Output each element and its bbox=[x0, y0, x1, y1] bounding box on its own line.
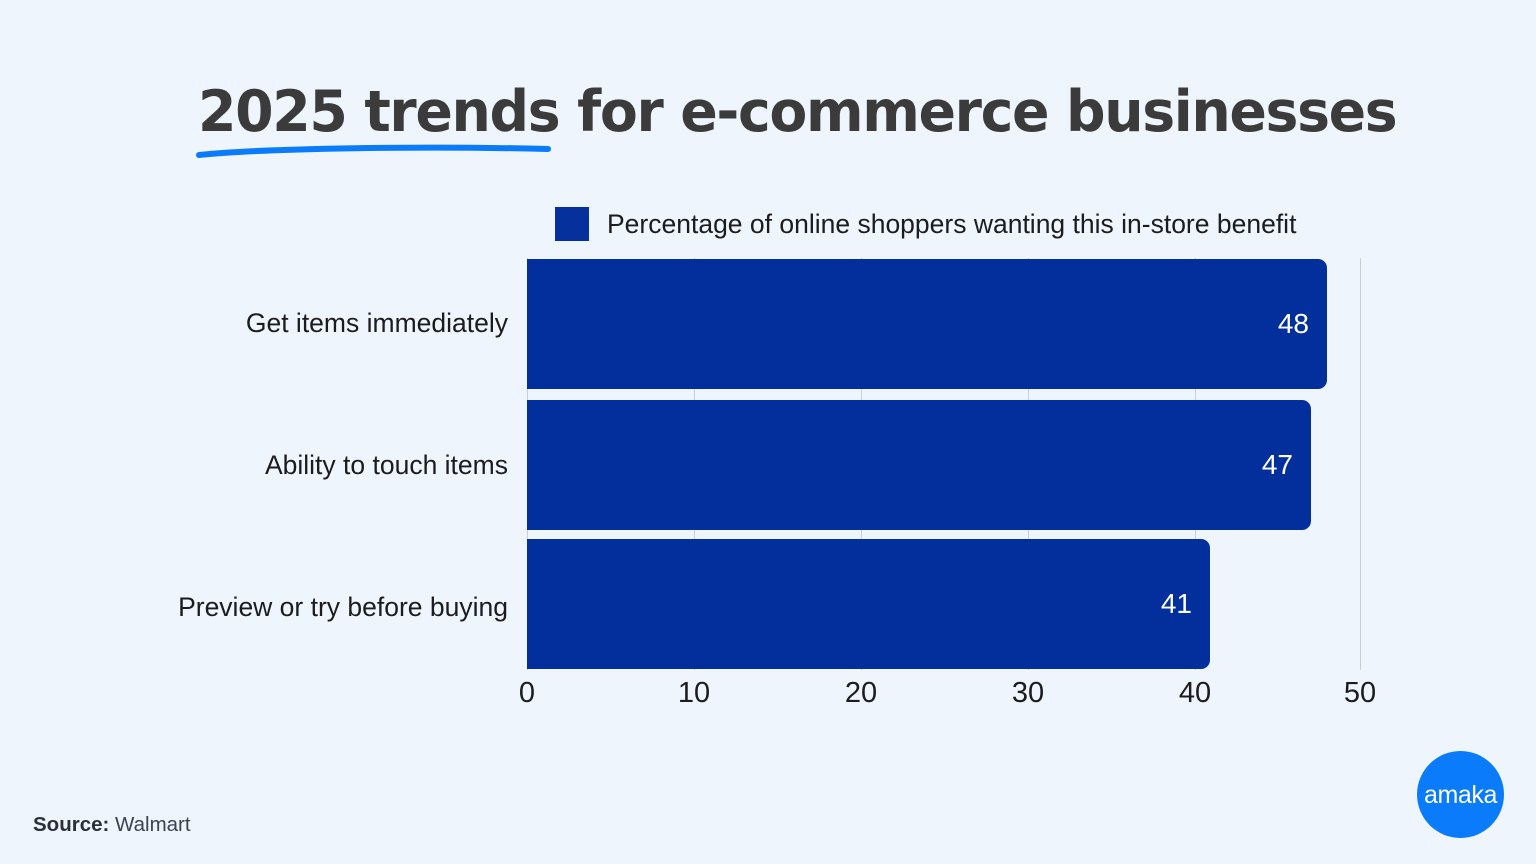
bar-ability-to-touch-items[interactable]: 47 bbox=[527, 400, 1311, 530]
x-tick-0: 0 bbox=[519, 676, 535, 710]
plot-area: 48 47 41 bbox=[527, 258, 1361, 670]
x-tick-10: 10 bbox=[678, 676, 710, 710]
source-label: Source: bbox=[33, 813, 109, 836]
x-tick-50: 50 bbox=[1344, 676, 1376, 710]
bar-series: 48 47 41 bbox=[527, 258, 1361, 670]
y-axis-label-0: Get items immediately bbox=[246, 308, 508, 338]
bar-get-items-immediately[interactable]: 48 bbox=[527, 259, 1327, 389]
source-value: Walmart bbox=[115, 813, 191, 836]
amaka-logo[interactable]: amaka bbox=[1417, 751, 1504, 838]
bar-preview-or-try-before-buying[interactable]: 41 bbox=[527, 539, 1210, 669]
bar-value-label-0: 48 bbox=[1278, 308, 1309, 340]
bar-value-label-2: 41 bbox=[1161, 588, 1192, 620]
x-tick-30: 30 bbox=[1012, 676, 1044, 710]
amaka-logo-text: amaka bbox=[1424, 781, 1497, 809]
bar-row-0: 48 bbox=[527, 259, 1327, 389]
source-attribution: Source: Walmart bbox=[33, 812, 191, 838]
x-tick-20: 20 bbox=[845, 676, 877, 710]
bar-row-1: 47 bbox=[527, 400, 1311, 530]
y-axis-label-2: Preview or try before buying bbox=[178, 592, 508, 622]
y-axis-label-1: Ability to touch items bbox=[265, 450, 508, 480]
infographic-canvas: 2025 trends for e-commerce businesses Pe… bbox=[0, 0, 1536, 864]
bar-row-2: 41 bbox=[527, 539, 1210, 669]
x-tick-40: 40 bbox=[1179, 676, 1211, 710]
bar-value-label-1: 47 bbox=[1262, 449, 1293, 481]
chart-plot-wrapper: Get items immediately Ability to touch i… bbox=[0, 0, 1536, 864]
